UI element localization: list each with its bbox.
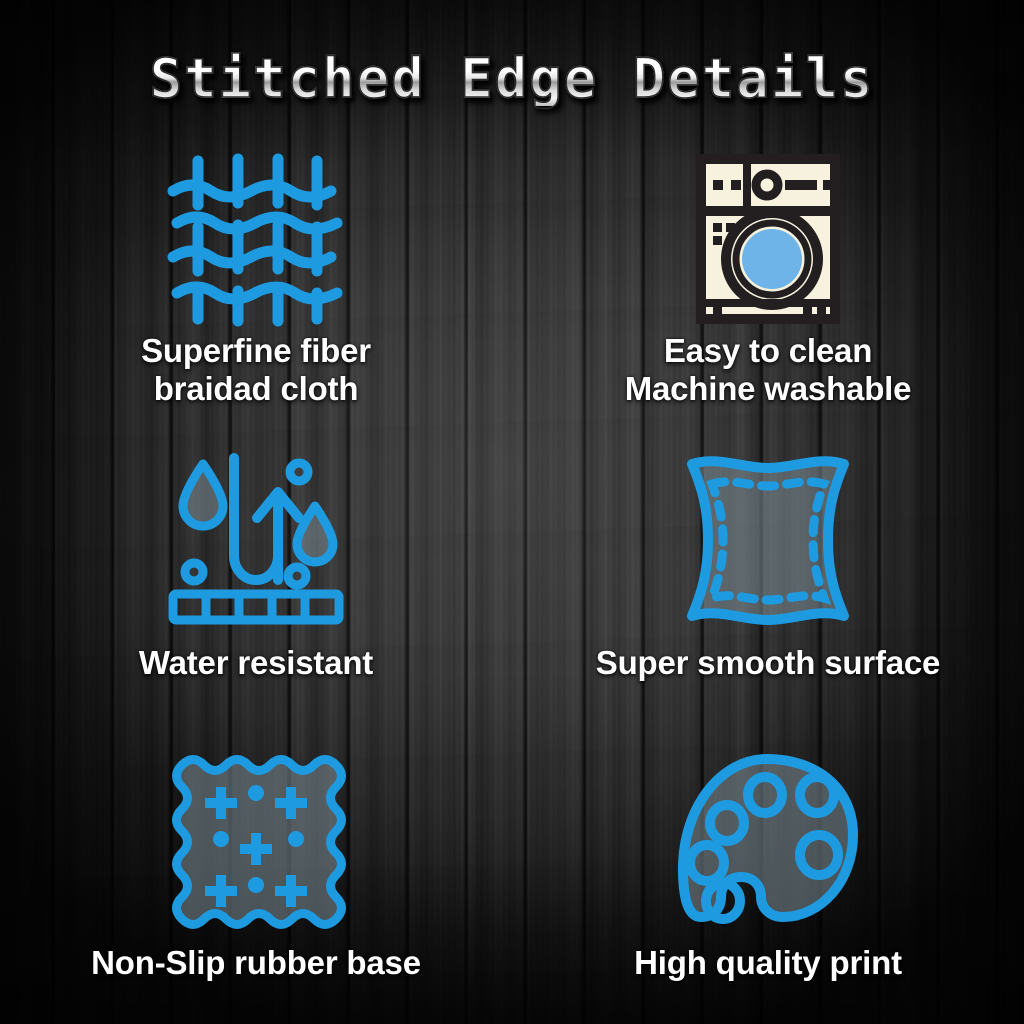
washing-machine-icon <box>695 150 841 328</box>
feature-caption: Superfine fiber braidad cloth <box>141 332 371 409</box>
feature-item-water-resistant: Water resistant <box>0 442 512 734</box>
feature-caption: High quality print <box>634 944 902 982</box>
leather-hide-stitched-icon <box>678 442 858 632</box>
feature-caption: Super smooth surface <box>596 644 940 682</box>
feature-item-non-slip-base: Non-Slip rubber base <box>0 734 512 1024</box>
feature-caption: Easy to clean Machine washable <box>625 332 912 409</box>
feature-item-smooth-surface: Super smooth surface <box>512 442 1024 734</box>
feature-item-high-quality-print: High quality print <box>512 734 1024 1024</box>
non-slip-rubber-mat-icon <box>168 734 344 934</box>
feature-grid: Superfine fiber braidad cloth <box>0 150 1024 1024</box>
feature-item-machine-washable: Easy to clean Machine washable <box>512 150 1024 442</box>
page-title: Stitched Edge Details <box>150 52 875 106</box>
feature-caption: Non-Slip rubber base <box>91 944 421 982</box>
feature-item-superfine-fiber: Superfine fiber braidad cloth <box>0 150 512 442</box>
water-droplet-repel-icon <box>167 442 345 632</box>
paint-palette-icon <box>675 734 861 934</box>
woven-fabric-icon <box>171 150 341 328</box>
title-container: Stitched Edge Details <box>0 52 1024 106</box>
feature-caption: Water resistant <box>139 644 373 682</box>
